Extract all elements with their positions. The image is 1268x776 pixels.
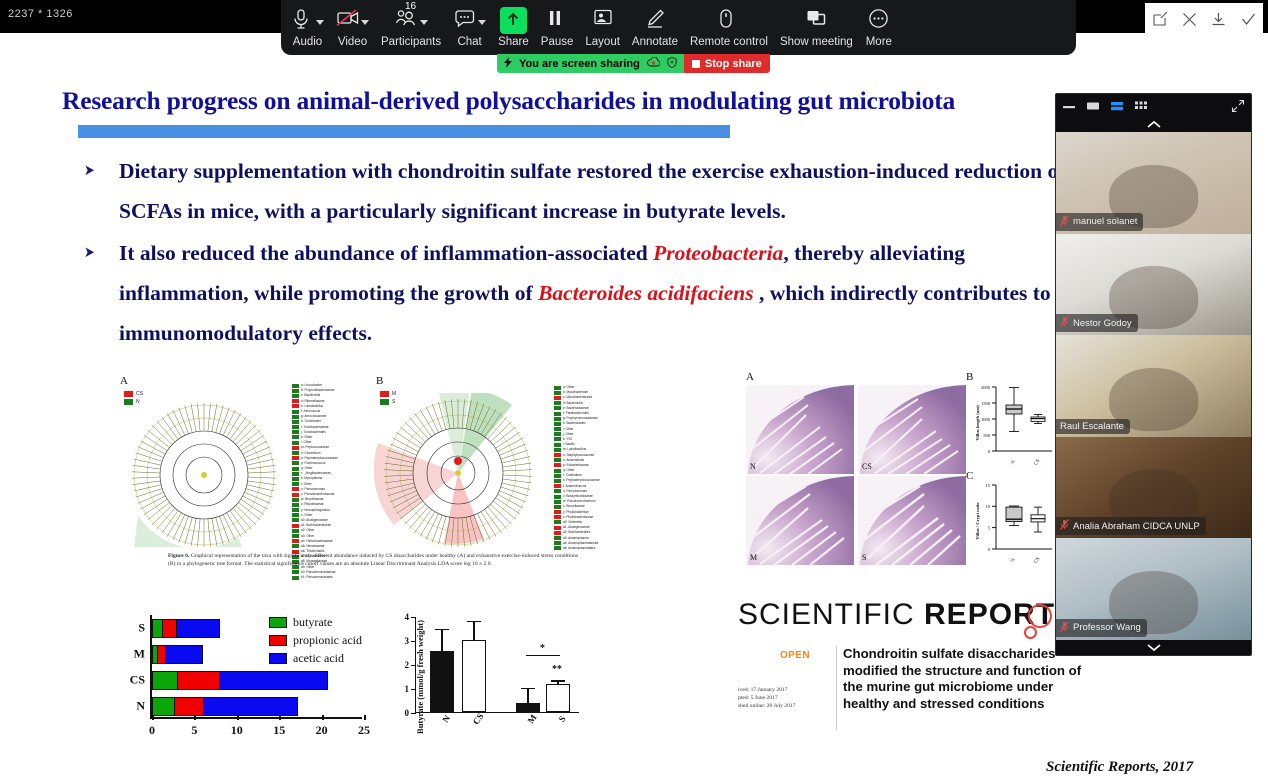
toolbar-item-remote-control[interactable]: Remote control xyxy=(684,3,774,49)
legend-label: a5: Anaeroplasmatales xyxy=(563,546,595,551)
participant-name-badge: Raul Escalante xyxy=(1056,419,1130,434)
sharing-status: You are screen sharing xyxy=(497,54,684,73)
legend-swatch xyxy=(554,474,561,478)
butyrate-y-tick xyxy=(411,713,416,714)
butyrate-bar-S xyxy=(546,684,570,712)
legend-swatch xyxy=(292,430,299,434)
histology-panel-b-letter: B xyxy=(966,371,973,383)
bullet-2-run-3: Bacteroides acidifaciens xyxy=(538,281,754,305)
legend-swatch xyxy=(292,435,299,439)
legend-swatch xyxy=(292,529,299,533)
scroll-up-chevron-icon[interactable] xyxy=(1056,117,1251,132)
histology-figure: A B C N CS M S xyxy=(744,373,1054,581)
panel-a-legend: a: Leucobacterb: Propionibacteriaceaec: … xyxy=(292,383,338,580)
svg-text:10: 10 xyxy=(986,504,991,509)
butyrate-y-tick xyxy=(411,665,416,666)
legend-swatch xyxy=(292,446,299,450)
scientific-reports-masthead: SCIENTIFIC REPORTS OPEN ived: 17 January… xyxy=(738,598,1068,748)
legend-swatch xyxy=(269,617,287,628)
chat-bubble-icon xyxy=(453,8,475,32)
cladogram-a-graphic xyxy=(116,397,296,547)
gallery-view-icon[interactable] xyxy=(1134,100,1148,112)
butyrate-errorbar xyxy=(557,682,558,684)
legend-swatch xyxy=(554,510,561,514)
minimize-icon[interactable] xyxy=(1062,100,1076,112)
scfa-x-tick xyxy=(322,715,324,720)
legend-swatch xyxy=(292,482,299,486)
butyrate-errorbar xyxy=(527,689,528,703)
capture-resolution-label: 2237 * 1326 xyxy=(8,8,73,20)
legend-swatch xyxy=(554,541,561,545)
screen-share-banner: You are screen sharing Stop share xyxy=(497,54,770,73)
scfa-legend-entry: butyrate xyxy=(269,615,362,630)
toolbar-item-annotate[interactable]: Annotate xyxy=(626,3,684,49)
legend-swatch xyxy=(554,443,561,447)
publication-date-2: shed online: 28 July 2017 xyxy=(738,702,796,710)
scfa-bar-row: N xyxy=(152,697,298,716)
scfa-x-tick xyxy=(194,715,196,720)
toolbar-label: Annotate xyxy=(632,36,678,49)
toolbar-item-audio[interactable]: Audio xyxy=(285,3,330,49)
participant-name: Analia Abraham CIDCA UNLP xyxy=(1073,521,1200,532)
histology-panel-a-letter: A xyxy=(746,371,754,383)
shield-security-icon[interactable] xyxy=(667,57,677,71)
legend-swatch xyxy=(292,544,299,548)
participant-video-panel[interactable]: manuel solanetNestor GodoyRaul Escalante… xyxy=(1055,93,1252,656)
legend-swatch xyxy=(292,472,299,476)
masthead-divider xyxy=(836,646,837,730)
butyrate-bar-M xyxy=(516,703,540,712)
legend-swatch xyxy=(292,539,299,543)
panel-b-legend: a: Otherb: Mycobacteriumc: Mycobacteriac… xyxy=(554,385,600,551)
microphone-muted-icon xyxy=(1060,215,1069,229)
publication-date-1: pted: 5 June 2017 xyxy=(738,694,796,702)
histology-image-s: S xyxy=(858,476,966,565)
svg-text:15: 15 xyxy=(986,483,991,488)
scfa-segment-butyrate xyxy=(152,619,162,638)
toolbar-item-more[interactable]: More xyxy=(859,3,899,49)
pencil-annotate-icon xyxy=(644,8,666,32)
bullet-list: Dietary supplementation with chondroitin… xyxy=(83,151,1073,355)
scfa-x-tick-label: 10 xyxy=(231,723,243,738)
share-button-highlight[interactable] xyxy=(500,7,527,34)
legend-swatch xyxy=(292,508,299,512)
legend-swatch xyxy=(554,437,561,441)
legend-swatch xyxy=(292,461,299,465)
chevron-down-icon[interactable] xyxy=(478,20,486,25)
video-panel-controls[interactable] xyxy=(1056,94,1251,117)
butyrate-bar-chart: Butyrate (mmol/g fresh weight) NCSMS0123… xyxy=(385,611,585,743)
legend-swatch xyxy=(554,406,561,410)
windows-icon xyxy=(805,8,827,32)
butyrate-x-label: CS xyxy=(471,711,486,726)
scfa-x-tick xyxy=(364,715,366,720)
scfa-x-tick xyxy=(237,715,239,720)
legend-swatch xyxy=(292,404,299,408)
figure-6-label: Figure 6. xyxy=(168,553,189,559)
participant-tiles: manuel solanetNestor GodoyRaul Escalante… xyxy=(1056,132,1251,640)
svg-text:Villus / Crypt ratio: Villus / Crypt ratio xyxy=(975,502,980,540)
svg-text:CS: CS xyxy=(1034,459,1042,467)
butyrate-errorbar xyxy=(473,622,474,640)
cladogram-b-legend-row: a5: Anaeroplasmatales xyxy=(554,546,600,551)
toolbar-item-layout[interactable]: Layout xyxy=(579,3,626,49)
cladogram-a-legend-row: b1: Pseudomonadales xyxy=(292,575,338,580)
page-title: Research progress on animal-derived poly… xyxy=(62,86,1152,116)
title-underline-bar xyxy=(78,125,730,138)
legend-swatch xyxy=(292,425,299,429)
legend-label: acetic acid xyxy=(293,651,344,666)
legend-swatch xyxy=(292,493,299,497)
figure-6-caption: Figure 6. Graphical representation of th… xyxy=(168,553,578,568)
histology-label-n: N xyxy=(750,462,756,471)
butyrate-y-tick-label: 0 xyxy=(405,708,410,718)
participants-count-badge: 16 xyxy=(405,2,416,12)
participant-tile[interactable]: Nestor Godoy xyxy=(1056,234,1251,336)
scfa-segment-butyrate xyxy=(152,671,177,690)
scfa-stacked-bar-chart: SMCSN0510152025 butyratepropionic acidac… xyxy=(118,611,366,743)
scfa-x-tick-label: 20 xyxy=(316,723,328,738)
bullet-2-run-0: It also reduced the abundance of inflamm… xyxy=(119,241,653,265)
legend-swatch xyxy=(554,505,561,509)
stop-square-icon xyxy=(692,60,700,68)
bullet-1-run-0: Dietary supplementation with chondroitin… xyxy=(119,159,1065,223)
legend-swatch xyxy=(292,441,299,445)
legend-swatch xyxy=(554,520,561,524)
scfa-chart-legend: butyratepropionic acidacetic acid xyxy=(269,615,362,666)
toolbar-label: Remote control xyxy=(690,36,768,49)
minimize-window-icon[interactable] xyxy=(1086,100,1100,112)
legend-swatch xyxy=(554,531,561,535)
legend-swatch xyxy=(554,396,561,400)
participant-name-badge: manuel solanet xyxy=(1056,213,1143,231)
villus-crypt-ratio-boxplot: 151050 Villus / Crypt ratio N CS xyxy=(972,481,1054,569)
butyrate-y-tick xyxy=(411,617,416,618)
butyrate-errorbar-cap xyxy=(435,629,449,630)
lightning-icon xyxy=(504,57,512,71)
butyrate-errorbar-cap xyxy=(521,688,535,689)
toolbar-item-show-meeting[interactable]: Show meeting xyxy=(774,3,859,49)
legend-swatch xyxy=(292,384,299,388)
histology-image-cs: CS xyxy=(858,385,966,474)
butyrate-y-tick-label: 2 xyxy=(405,660,410,670)
legend-swatch xyxy=(554,458,561,462)
svg-text:5: 5 xyxy=(988,525,991,530)
legend-swatch xyxy=(292,518,299,522)
butyrate-y-tick-label: 1 xyxy=(405,684,410,694)
legend-label: propionic acid xyxy=(293,633,362,648)
legend-swatch xyxy=(554,526,561,530)
scfa-x-tick-label: 25 xyxy=(358,723,370,738)
microphone-muted-icon xyxy=(1060,316,1069,330)
svg-text:Villus length (um): Villus length (um) xyxy=(975,405,980,441)
svg-text:0: 0 xyxy=(988,547,991,552)
bullet-2-run-1: Proteobacteria xyxy=(653,241,783,265)
microphone-muted-icon xyxy=(1060,519,1069,533)
legend-swatch xyxy=(554,515,561,519)
legend-swatch xyxy=(554,479,561,483)
scroll-down-chevron-icon[interactable] xyxy=(1056,640,1251,655)
new-note-icon[interactable] xyxy=(1149,8,1171,30)
window-action-buttons[interactable] xyxy=(1145,3,1263,35)
scfa-category-label: M xyxy=(134,647,145,662)
svg-text:2000: 2000 xyxy=(981,385,991,390)
chevron-down-icon[interactable] xyxy=(420,20,428,25)
panel-a-letter: A xyxy=(120,375,128,387)
butyrate-plot-area: NCSMS01234*** xyxy=(415,617,579,713)
participant-name-badge: Analia Abraham CIDCA UNLP xyxy=(1056,517,1206,535)
legend-swatch xyxy=(554,432,561,436)
participant-tile[interactable]: manuel solanet xyxy=(1056,132,1251,234)
chevron-down-icon[interactable] xyxy=(361,20,369,25)
scfa-segment-acetic-acid xyxy=(165,645,203,664)
scfa-x-tick xyxy=(279,715,281,720)
toolbar-label: More xyxy=(866,36,892,49)
chevron-down-icon[interactable] xyxy=(316,20,324,25)
download-icon[interactable] xyxy=(1208,8,1230,30)
sharing-status-text: You are screen sharing xyxy=(519,58,640,70)
participant-name: Nestor Godoy xyxy=(1073,318,1132,329)
scfa-bar-row: M xyxy=(152,645,203,664)
svg-text:1000: 1000 xyxy=(981,417,991,422)
source-citation: Scientific Reports, 2017 xyxy=(1046,759,1193,776)
figure-6-caption-text: Graphical representation of the taxa wit… xyxy=(168,553,578,567)
legend-swatch xyxy=(269,653,287,664)
scfa-segment-acetic-acid xyxy=(176,619,220,638)
legend-swatch xyxy=(292,389,299,393)
butyrate-x-label: M xyxy=(526,713,539,726)
scfa-x-tick-label: 0 xyxy=(149,723,155,738)
legend-swatch xyxy=(292,570,299,574)
legend-swatch xyxy=(554,386,561,390)
histology-label-m: M xyxy=(750,553,757,562)
microphone-muted-icon xyxy=(1060,621,1069,635)
participant-name: Professor Wang xyxy=(1073,622,1141,633)
legend-swatch xyxy=(292,534,299,538)
cladogram-panel-a: A CSN a: Leucobacterb: Propionibacteriac… xyxy=(114,375,364,550)
significance-bracket xyxy=(526,655,560,656)
toolbar-item-participants[interactable]: 16Participants xyxy=(375,3,447,49)
mouse-icon xyxy=(718,8,740,32)
legend-swatch xyxy=(292,415,299,419)
legend-swatch xyxy=(292,503,299,507)
scfa-segment-propionic-acid xyxy=(157,645,165,664)
legend-label: butyrate xyxy=(293,615,332,630)
publication-dates: ived: 17 January 2017pted: 5 June 2017sh… xyxy=(738,686,796,711)
scientific-reports-logo: SCIENTIFIC REPORTS xyxy=(738,598,1068,632)
fullscreen-expand-icon[interactable] xyxy=(1231,99,1245,113)
participant-tile[interactable]: Raul Escalante xyxy=(1056,335,1251,437)
legend-swatch xyxy=(292,420,299,424)
toolbar-label: Participants xyxy=(381,36,441,49)
svg-text:0: 0 xyxy=(988,449,991,454)
scirep-word-scientific: SCIENTIFIC xyxy=(738,598,915,631)
speaker-view-icon[interactable] xyxy=(1110,100,1124,112)
legend-swatch xyxy=(554,453,561,457)
significance-star-1: * xyxy=(540,643,545,654)
scfa-category-label: CS xyxy=(130,673,145,688)
toolbar-label: Chat xyxy=(457,36,481,49)
butyrate-errorbar xyxy=(441,630,442,651)
toolbar-item-share[interactable]: Share xyxy=(492,3,535,49)
participant-tile[interactable]: Professor Wang xyxy=(1056,538,1251,640)
legend-swatch xyxy=(292,487,299,491)
legend-swatch xyxy=(554,469,561,473)
cladogram-b-graphic xyxy=(372,393,552,548)
publication-date-0: ived: 17 January 2017 xyxy=(738,686,796,694)
legend-swatch xyxy=(554,500,561,504)
scfa-x-tick-label: 5 xyxy=(191,723,197,738)
toolbar-label: Pause xyxy=(541,36,574,49)
scfa-segment-propionic-acid xyxy=(162,619,176,638)
butyrate-bar-CS xyxy=(462,640,486,712)
scfa-legend-entry: acetic acid xyxy=(269,651,362,666)
scirep-word-reports: REPORTS xyxy=(924,598,1076,631)
butyrate-y-tick xyxy=(411,689,416,690)
legend-swatch xyxy=(554,401,561,405)
stop-share-button[interactable]: Stop share xyxy=(684,54,770,73)
butyrate-errorbar-cap xyxy=(467,621,481,622)
open-access-badge: OPEN xyxy=(780,650,810,661)
legend-swatch xyxy=(292,451,299,455)
bullet-item-2: It also reduced the abundance of inflamm… xyxy=(83,233,1073,353)
legend-swatch xyxy=(554,391,561,395)
stop-share-label: Stop share xyxy=(705,58,762,70)
legend-swatch xyxy=(554,546,561,550)
butyrate-y-tick xyxy=(411,641,416,642)
butyrate-errorbar-cap xyxy=(551,680,565,681)
legend-swatch xyxy=(554,536,561,540)
butyrate-y-tick-label: 4 xyxy=(405,612,410,622)
scfa-x-tick xyxy=(152,715,154,720)
histology-image-n: N xyxy=(746,385,854,474)
scfa-legend-entry: propionic acid xyxy=(269,633,362,648)
villus-length-boxplot: 20001500 10005000 Villus length (um) N C… xyxy=(972,383,1054,471)
butyrate-y-tick-label: 3 xyxy=(405,636,410,646)
gear-icon-small xyxy=(1024,626,1037,639)
toolbar-label: Layout xyxy=(585,36,620,49)
cladogram-panel-b: B MS a: Otherb: Mycobacteriumc: Mycobact… xyxy=(372,375,637,550)
svg-text:CS: CS xyxy=(1034,557,1042,565)
bullet-item-1: Dietary supplementation with chondroitin… xyxy=(83,151,1073,231)
legend-swatch xyxy=(554,495,561,499)
ellipsis-circle-icon xyxy=(868,8,890,32)
check-icon[interactable] xyxy=(1237,8,1259,30)
scfa-bar-row: S xyxy=(152,619,220,638)
legend-label: b1: Pseudomonadales xyxy=(301,575,333,580)
participant-name-badge: Professor Wang xyxy=(1056,619,1147,637)
toolbar-label: Show meeting xyxy=(780,36,853,49)
legend-swatch xyxy=(292,394,299,398)
histology-image-m: M xyxy=(746,476,854,565)
legend-swatch xyxy=(554,417,561,421)
scfa-segment-butyrate xyxy=(152,697,174,716)
scfa-category-label: N xyxy=(136,699,145,714)
butyrate-x-label: S xyxy=(557,714,568,724)
legend-swatch xyxy=(554,422,561,426)
svg-text:N: N xyxy=(1011,459,1017,465)
video-camera-off-icon xyxy=(336,8,358,32)
legend-swatch xyxy=(292,524,299,528)
legend-swatch xyxy=(292,498,299,502)
legend-swatch xyxy=(554,484,561,488)
participant-name: manuel solanet xyxy=(1073,216,1137,227)
scfa-category-label: S xyxy=(138,621,145,636)
toolbar-label: Video xyxy=(338,36,367,49)
legend-swatch xyxy=(554,412,561,416)
toolbar-item-video[interactable]: Video xyxy=(330,3,375,49)
legend-swatch xyxy=(554,448,561,452)
participant-name-badge: Nestor Godoy xyxy=(1056,314,1138,332)
legend-swatch xyxy=(269,635,287,646)
scfa-segment-acetic-acid xyxy=(219,671,328,690)
pause-icon xyxy=(546,8,568,32)
panel-b-letter: B xyxy=(376,375,383,387)
participant-tile[interactable]: Analia Abraham CIDCA UNLP xyxy=(1056,437,1251,539)
butyrate-x-label: N xyxy=(440,713,452,724)
butyrate-bar-N xyxy=(430,651,454,712)
layout-icon xyxy=(592,8,614,32)
significance-star-2: ** xyxy=(552,664,562,675)
recording-cloud-icon[interactable] xyxy=(647,57,660,70)
svg-text:500: 500 xyxy=(983,433,991,438)
legend-swatch xyxy=(292,456,299,460)
svg-text:1500: 1500 xyxy=(981,401,991,406)
toolbar-label: Share xyxy=(498,36,529,49)
legend-swatch xyxy=(292,410,299,414)
legend-swatch xyxy=(554,427,561,431)
legend-swatch xyxy=(292,467,299,471)
histology-label-s: S xyxy=(862,553,866,562)
scfa-segment-acetic-acid xyxy=(203,697,298,716)
legend-swatch xyxy=(292,477,299,481)
zoom-meeting-toolbar[interactable]: AudioVideo16ParticipantsChatSharePauseLa… xyxy=(281,0,1076,55)
gear-icon-large xyxy=(1028,604,1052,628)
participant-name: Raul Escalante xyxy=(1060,421,1124,432)
legend-swatch xyxy=(292,399,299,403)
legend-swatch xyxy=(292,513,299,517)
toolbar-item-pause[interactable]: Pause xyxy=(535,3,580,49)
histology-label-cs: CS xyxy=(862,462,872,471)
legend-swatch xyxy=(554,489,561,493)
scfa-x-tick-label: 15 xyxy=(273,723,285,738)
close-icon[interactable] xyxy=(1178,8,1200,30)
legend-swatch xyxy=(292,576,299,580)
scfa-bar-row: CS xyxy=(152,671,328,690)
scfa-segment-propionic-acid xyxy=(177,671,219,690)
toolbar-item-chat[interactable]: Chat xyxy=(447,3,492,49)
legend-swatch xyxy=(554,463,561,467)
toolbar-label: Audio xyxy=(293,36,322,49)
svg-text:N: N xyxy=(1011,557,1017,563)
microphone-icon xyxy=(291,8,313,32)
scfa-segment-propionic-acid xyxy=(174,697,203,716)
